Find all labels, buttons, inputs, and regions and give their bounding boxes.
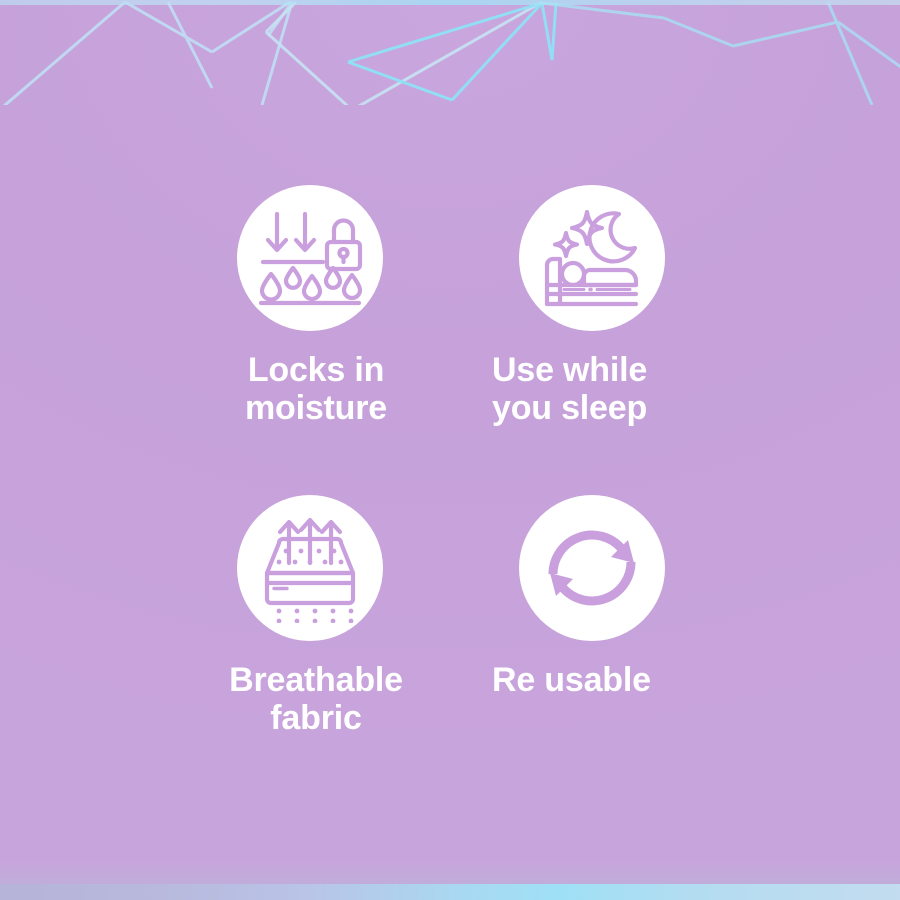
feature-item-locks-in-moisture: Locks in moisture xyxy=(237,185,404,427)
bottom-gradient-strip xyxy=(0,884,900,900)
feature-caption: Breathable fabric xyxy=(197,661,435,737)
feature-caption: Use while you sleep xyxy=(492,351,707,427)
bottom-fade xyxy=(0,858,900,884)
promo-graphic: Locks in moisture xyxy=(0,0,900,900)
feature-item-breathable-fabric: Breathable fabric xyxy=(237,495,435,737)
reusable-cycle-arrows-icon xyxy=(519,495,665,641)
feature-grid: Locks in moisture xyxy=(0,0,900,900)
sleeping-in-bed-night-icon xyxy=(519,185,665,331)
feature-item-re-usable: Re usable xyxy=(519,495,707,699)
locks-in-moisture-icon xyxy=(237,185,383,331)
feature-item-use-while-you-sleep: Use while you sleep xyxy=(519,185,707,427)
feature-caption: Re usable xyxy=(492,661,707,699)
feature-caption: Locks in moisture xyxy=(228,351,404,427)
breathable-mattress-airflow-icon xyxy=(237,495,383,641)
